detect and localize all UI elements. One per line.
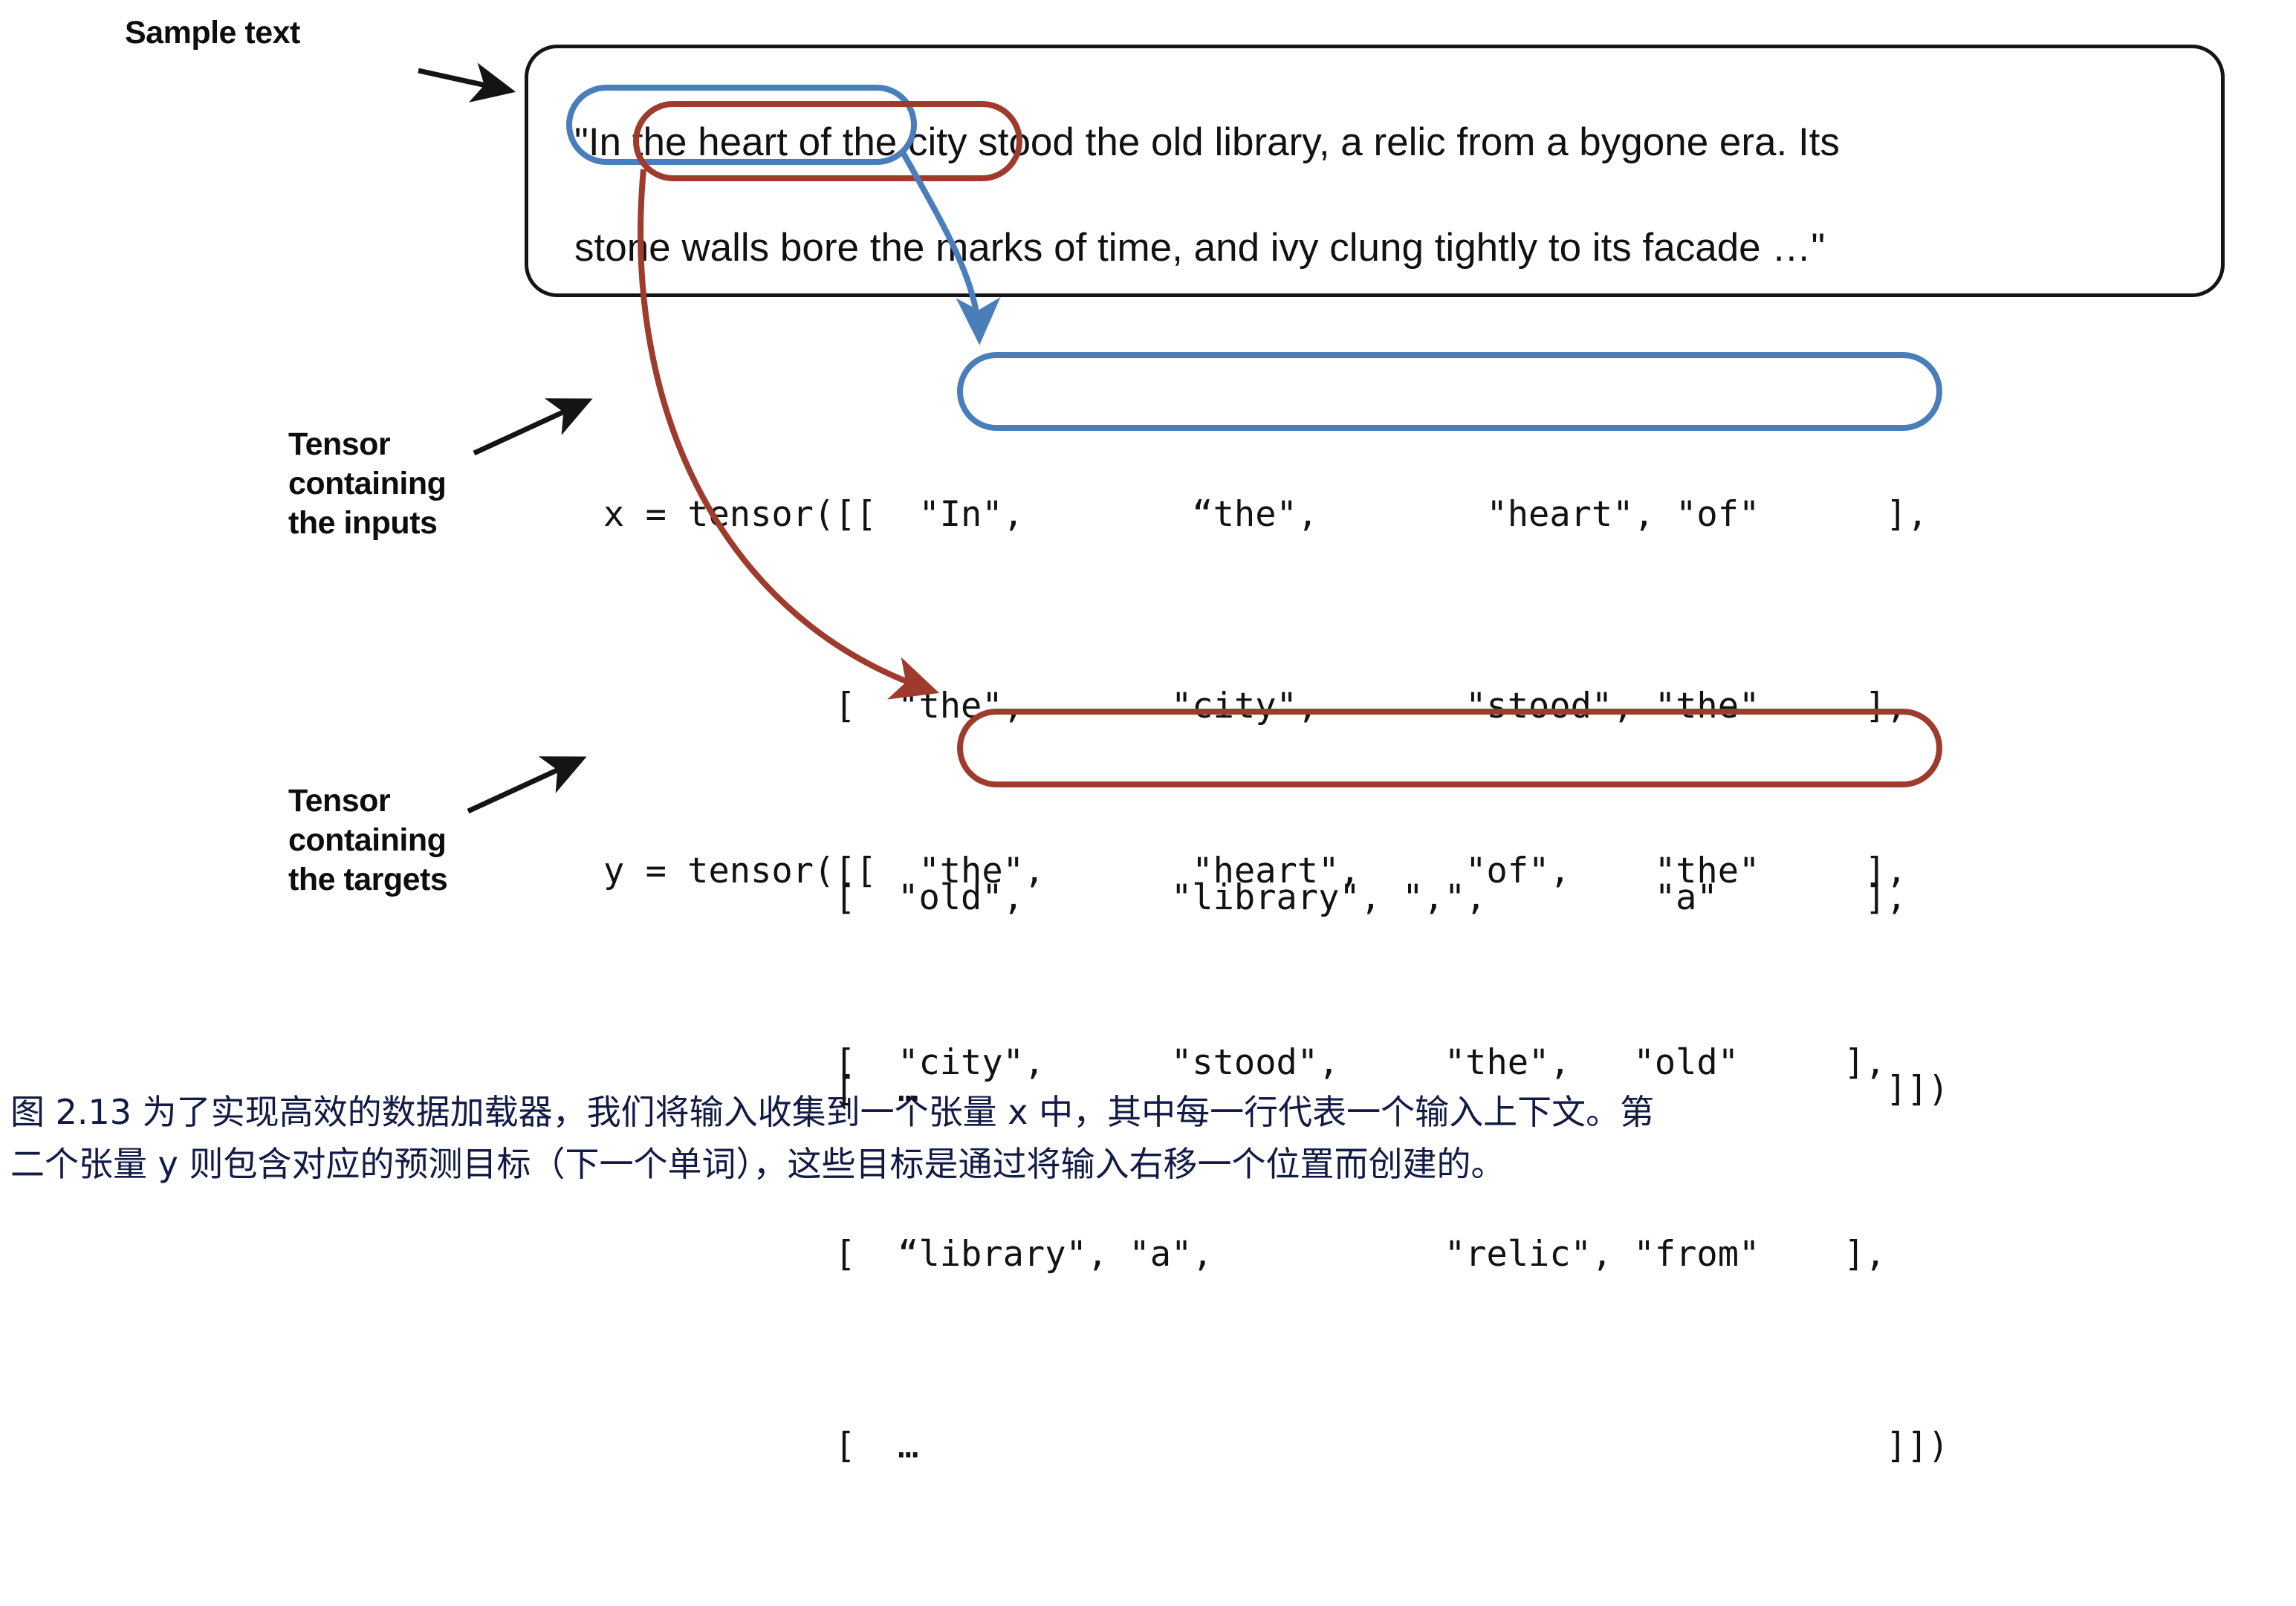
sample-text-line-1: "In the heart of the city stood the old … xyxy=(574,120,1840,165)
tensor-targets-annotation-line-1: containing xyxy=(288,821,447,860)
sample-text-line-2: stone walls bore the marks of time, and … xyxy=(574,225,1825,270)
tensor-targets-annotation-line-0: Tensor xyxy=(288,781,447,821)
sample-text-annotation-label: Sample text xyxy=(125,13,300,53)
sample-text-box: "In the heart of the city stood the old … xyxy=(525,45,2225,297)
tensor-y-row-0: y = tensor([[ "the", "heart", "of", "the… xyxy=(603,839,1949,903)
sample-text-annotation-line: Sample text xyxy=(125,13,300,53)
tensor-y-row-3: [ … ]]) xyxy=(603,1414,1949,1478)
tensor-inputs-annotation-line-1: containing xyxy=(288,464,446,504)
figure-canvas: "In the heart of the city stood the old … xyxy=(0,0,2296,1239)
tensor-inputs-annotation-line-0: Tensor xyxy=(288,425,446,464)
tensor-inputs-annotation-line-2: the inputs xyxy=(288,504,446,543)
sample-text-pointer-arrow xyxy=(418,71,510,91)
tensor-inputs-annotation-label: Tensor containing the inputs xyxy=(288,425,446,543)
tensor-targets-annotation-label: Tensor containing the targets xyxy=(288,781,447,900)
tensor-y-row-1: [ "city", "stood", "the", "old" ], xyxy=(603,1031,1949,1095)
tensor-targets-pointer-arrow xyxy=(468,759,581,811)
tensor-y-row-2: [ “library", "a", "relic", "from" ], xyxy=(603,1223,1949,1287)
tensor-y-code: y = tensor([[ "the", "heart", "of", "the… xyxy=(603,712,1949,1606)
tensor-x-row-0: x = tensor([[ "In", “the", "heart", "of"… xyxy=(603,483,1949,547)
tensor-targets-annotation-line-2: the targets xyxy=(288,860,447,900)
tensor-inputs-pointer-arrow xyxy=(474,401,587,453)
